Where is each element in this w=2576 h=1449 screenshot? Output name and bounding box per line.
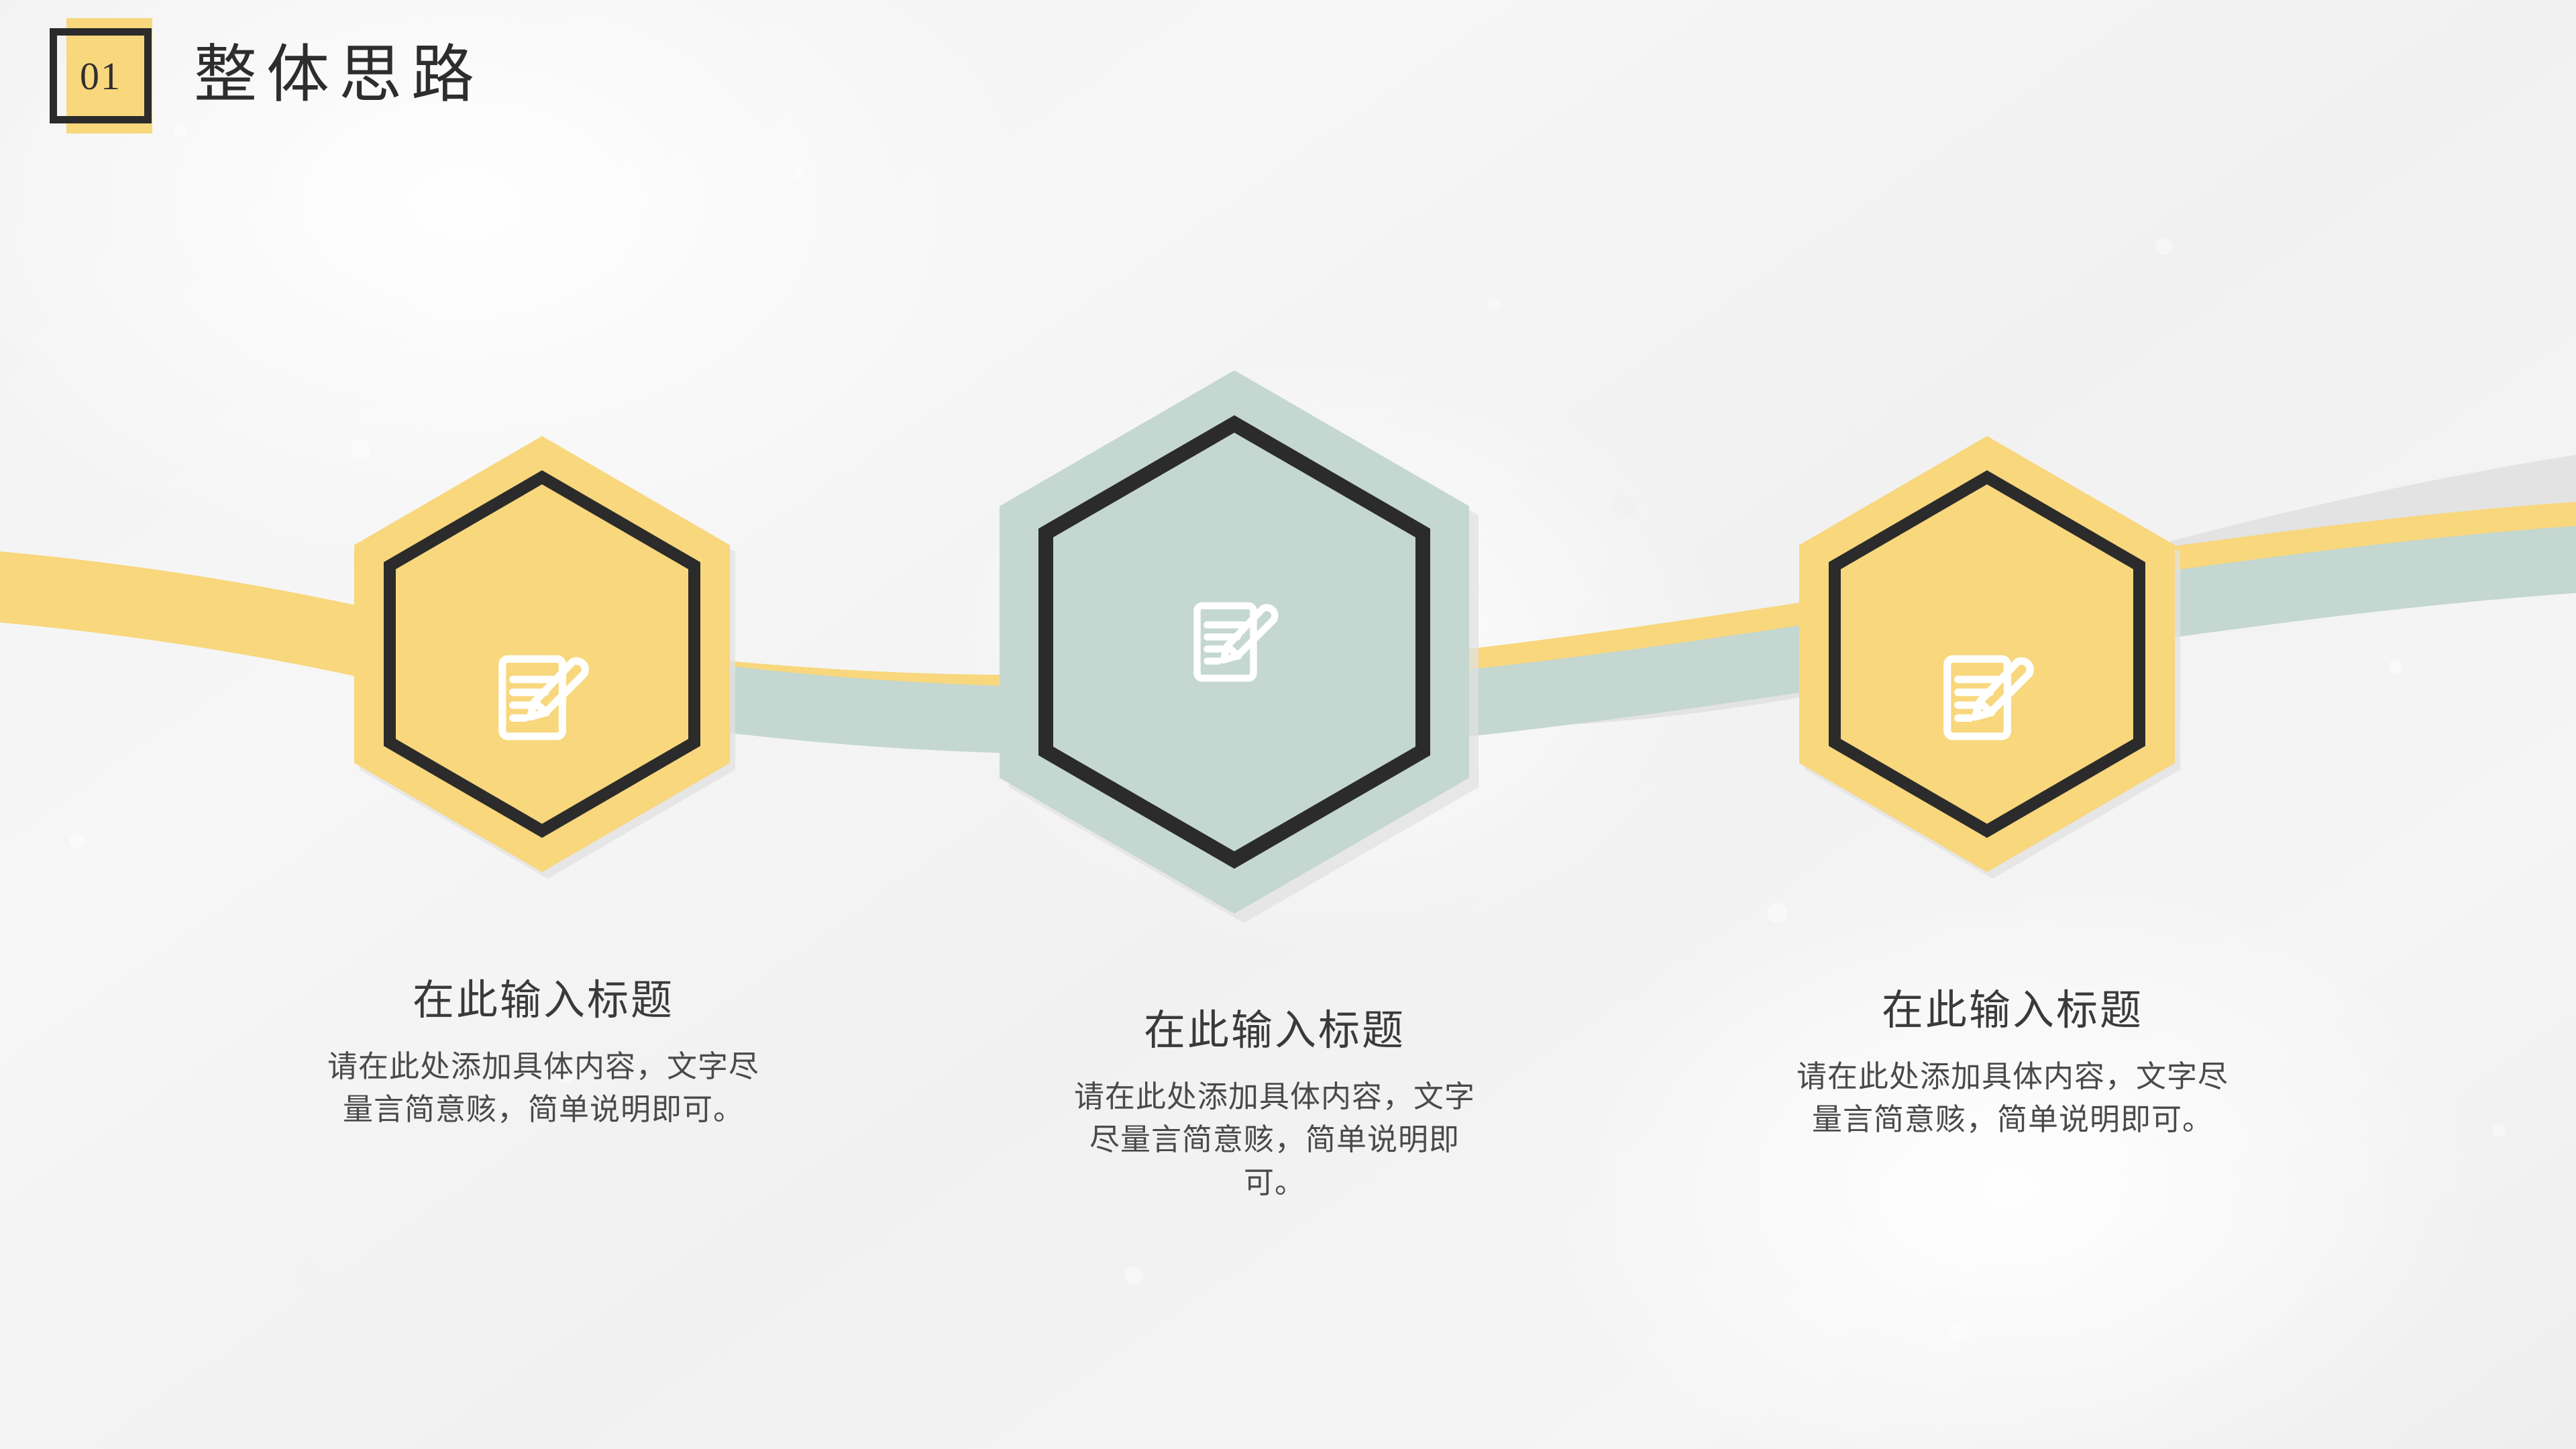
document-pencil-icon <box>1920 631 2054 765</box>
page-title: 整体思路 <box>194 25 484 125</box>
column-body-2: 请在此处添加具体内容，文字尽量言简意赅，简单说明即可。 <box>1053 1075 1496 1204</box>
column-title-3: 在此输入标题 <box>1764 986 2261 1034</box>
section-number-badge: 01 <box>50 28 170 123</box>
hex-card-3[interactable] <box>1799 436 2175 872</box>
document-pencil-icon <box>475 631 609 765</box>
column-body-3: 请在此处添加具体内容，文字尽量言简意赅，简单说明即可。 <box>1764 1055 2261 1141</box>
column-title-2: 在此输入标题 <box>1053 1006 1496 1054</box>
column-title-1: 在此输入标题 <box>295 976 792 1024</box>
document-pencil-icon <box>1167 588 1301 696</box>
content-column-3: 在此输入标题 请在此处添加具体内容，文字尽量言简意赅，简单说明即可。 <box>1764 986 2261 1141</box>
content-column-2: 在此输入标题 请在此处添加具体内容，文字尽量言简意赅，简单说明即可。 <box>1053 1006 1496 1204</box>
hex-card-1[interactable] <box>354 436 730 872</box>
content-column-1: 在此输入标题 请在此处添加具体内容，文字尽量言简意赅，简单说明即可。 <box>295 976 792 1131</box>
hex-card-2[interactable] <box>1000 370 1469 914</box>
slide-canvas: 01 整体思路 <box>0 0 2576 1449</box>
column-body-1: 请在此处添加具体内容，文字尽量言简意赅，简单说明即可。 <box>295 1045 792 1131</box>
section-number: 01 <box>50 28 152 123</box>
